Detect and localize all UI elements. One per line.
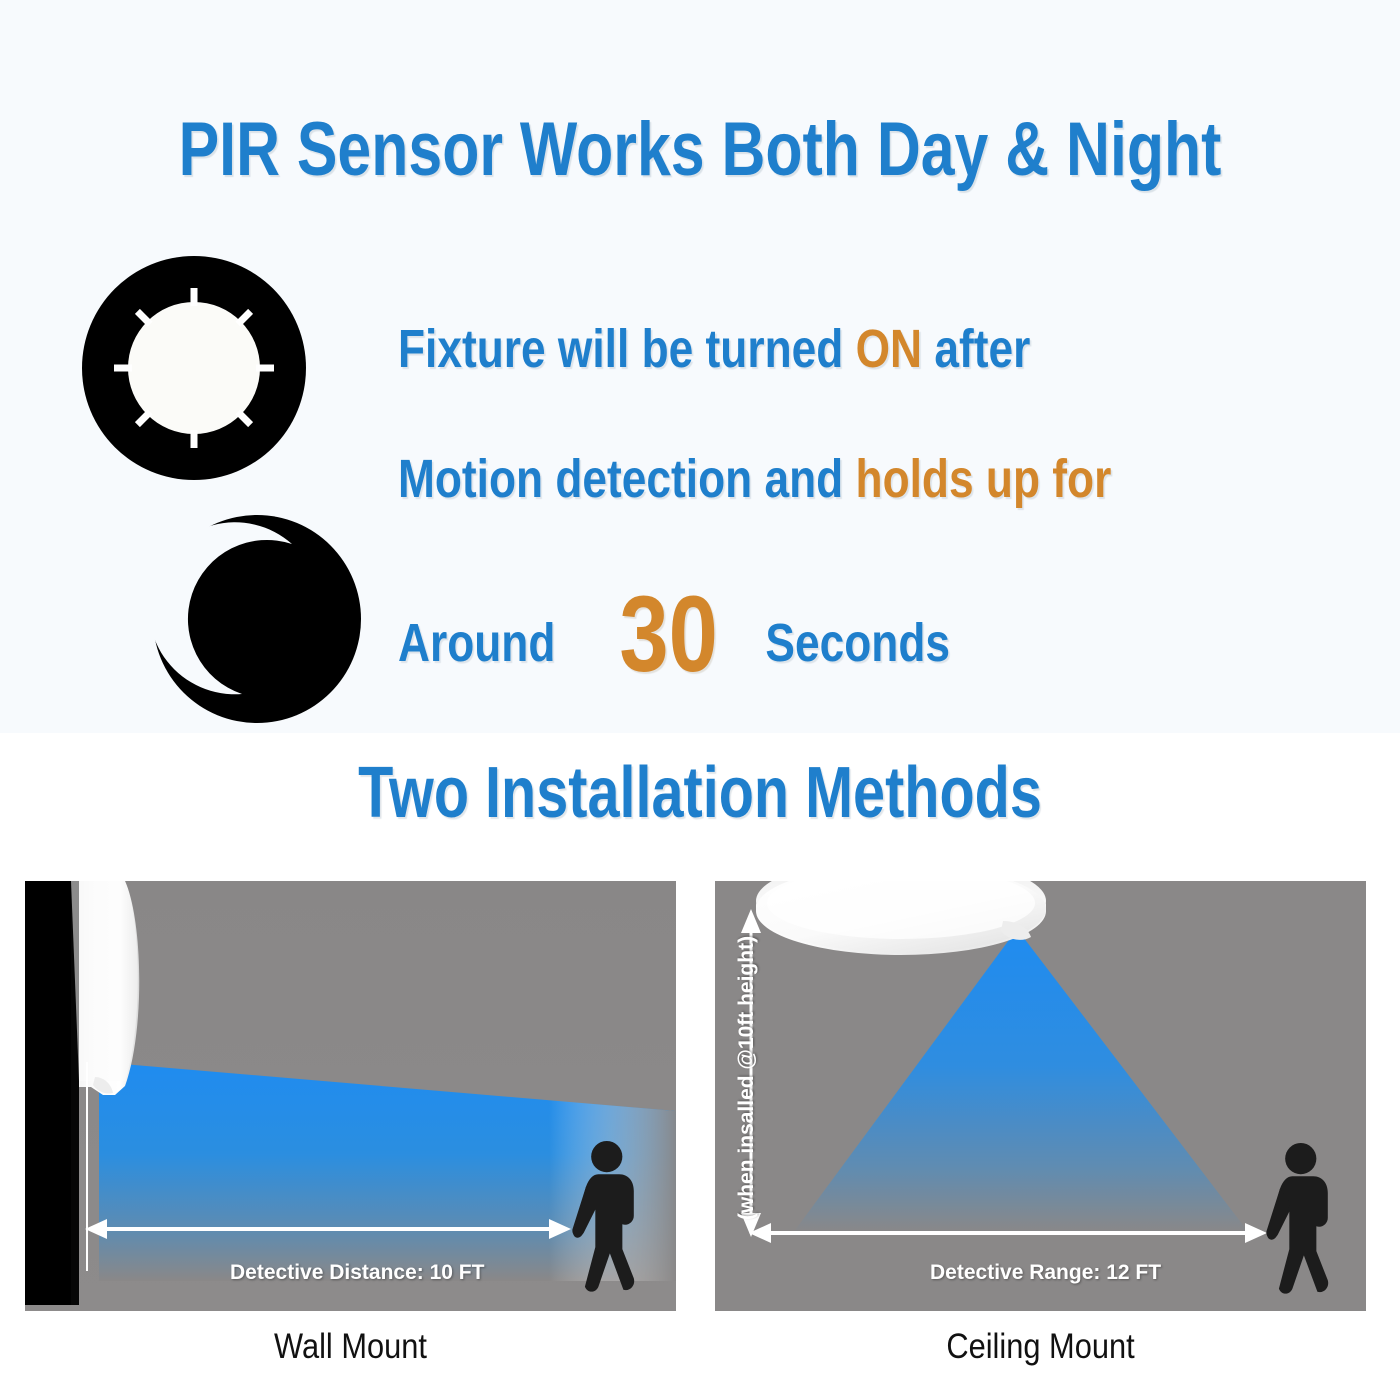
ceiling-mount-caption: Ceiling Mount [754,1327,1327,1367]
message-line-3: Around 30 Seconds [398,570,950,678]
message-line-2-part-a: Motion detection and [398,449,856,509]
ceiling-mount-diagram: (when insalled @10ft height) Detective R… [715,881,1366,1311]
message-line-3-part-b: Seconds [765,616,950,670]
message-line-2: Motion detection and holds up for [398,452,1111,506]
hold-time-value: 30 [619,580,718,688]
section-title-installation: Two Installation Methods [140,757,1260,829]
message-line-3-part-a: Around [398,616,555,670]
ceiling-height-label: (when insalled @10ft height) [735,913,759,1243]
message-line-1-part-b: after [922,319,1030,379]
sun-icon [78,252,310,484]
icon-column [72,252,322,712]
ceiling-range-label: Detective Range: 12 FT [930,1261,1161,1285]
message-line-1: Fixture will be turned ON after [398,322,1030,376]
wall-mount-diagram: Detective Distance: 10 FT [25,881,676,1311]
wall-distance-label: Detective Distance: 10 FT [230,1261,484,1285]
moon-icon [152,514,362,724]
message-line-1-part-a: Fixture will be turned [398,319,856,379]
message-line-2-highlight: holds up for [856,449,1112,509]
message-line-1-highlight: ON [856,319,922,379]
page-title: PIR Sensor Works Both Day & Night [140,112,1260,188]
wall-mount-caption: Wall Mount [64,1327,637,1367]
